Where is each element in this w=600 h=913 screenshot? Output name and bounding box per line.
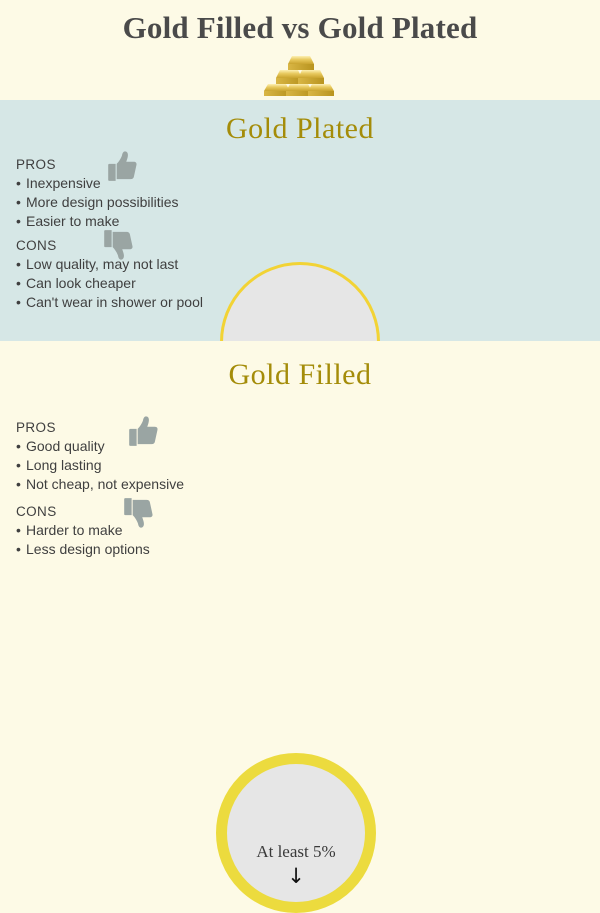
list-item: Easier to make bbox=[16, 212, 256, 231]
cons-list: Low quality, may not last Can look cheap… bbox=[16, 255, 256, 312]
down-arrow-icon: ↓ bbox=[227, 866, 365, 887]
gold-filled-thickness-circle: At least 5% ↓ bbox=[216, 753, 376, 913]
page-title: Gold Filled vs Gold Plated bbox=[0, 10, 600, 46]
list-item: Not cheap, not expensive bbox=[16, 475, 256, 494]
gold-filled-percentage-label: At least 5% bbox=[227, 842, 365, 862]
gold-bars-icon bbox=[258, 52, 342, 96]
thumbs-down-icon bbox=[121, 496, 155, 530]
cons-block-gold-plated: CONS Low quality, may not last Can look … bbox=[16, 238, 256, 312]
list-item: Long lasting bbox=[16, 456, 256, 475]
list-item: More design possibilities bbox=[16, 193, 256, 212]
thumbs-down-icon bbox=[101, 228, 135, 262]
section-gold-plated: Gold Plated PROS Inexpensive More design… bbox=[0, 100, 600, 341]
section-heading-gold-filled: Gold Filled bbox=[0, 358, 600, 392]
thumbs-up-icon bbox=[105, 149, 139, 183]
section-gold-filled: Gold Filled PROS Good quality Long lasti… bbox=[0, 341, 600, 582]
pros-block-gold-plated: PROS Inexpensive More design possibiliti… bbox=[16, 157, 256, 231]
thumbs-up-icon bbox=[126, 414, 160, 448]
list-item: Low quality, may not last bbox=[16, 255, 256, 274]
list-item: Can look cheaper bbox=[16, 274, 256, 293]
cons-label: CONS bbox=[16, 238, 256, 253]
list-item: Can't wear in shower or pool bbox=[16, 293, 256, 312]
section-heading-gold-plated: Gold Plated bbox=[0, 112, 600, 146]
pros-block-gold-filled: PROS Good quality Long lasting Not cheap… bbox=[16, 420, 256, 494]
cons-block-gold-filled: CONS Harder to make Less design options bbox=[16, 504, 256, 559]
header: Gold Filled vs Gold Plated bbox=[0, 0, 600, 100]
list-item: Less design options bbox=[16, 540, 256, 559]
